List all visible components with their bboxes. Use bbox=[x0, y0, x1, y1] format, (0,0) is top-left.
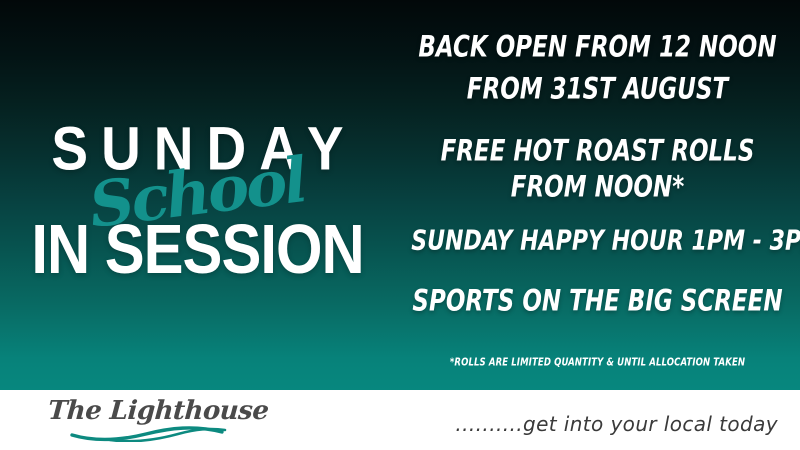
promo-line-from-date: FROM 31ST AUGUST bbox=[411, 72, 784, 106]
promo-line-from-noon: FROM NOON* bbox=[411, 170, 784, 204]
brand-logo: The Lighthouse bbox=[48, 396, 218, 444]
promo-line-back-open: BACK OPEN FROM 12 NOON bbox=[411, 30, 784, 64]
promo-line-roast-rolls: FREE HOT ROAST ROLLS bbox=[411, 134, 784, 168]
footer-tagline: ..........get into your local today bbox=[455, 412, 778, 436]
promo-list: BACK OPEN FROM 12 NOON FROM 31ST AUGUST … bbox=[395, 0, 800, 390]
promo-line-happy-hour: SUNDAY HAPPY HOUR 1PM - 3PM bbox=[411, 224, 784, 256]
fineprint-disclaimer: *ROLLS ARE LIMITED QUANTITY & UNTIL ALLO… bbox=[405, 357, 790, 369]
promo-poster: SUNDAY School IN SESSION BACK OPEN FROM … bbox=[0, 0, 800, 450]
promo-line-big-screen: SPORTS ON THE BIG SCREEN bbox=[411, 284, 784, 318]
wave-swoosh-icon bbox=[70, 420, 230, 442]
headline-block: SUNDAY School IN SESSION bbox=[0, 0, 395, 390]
